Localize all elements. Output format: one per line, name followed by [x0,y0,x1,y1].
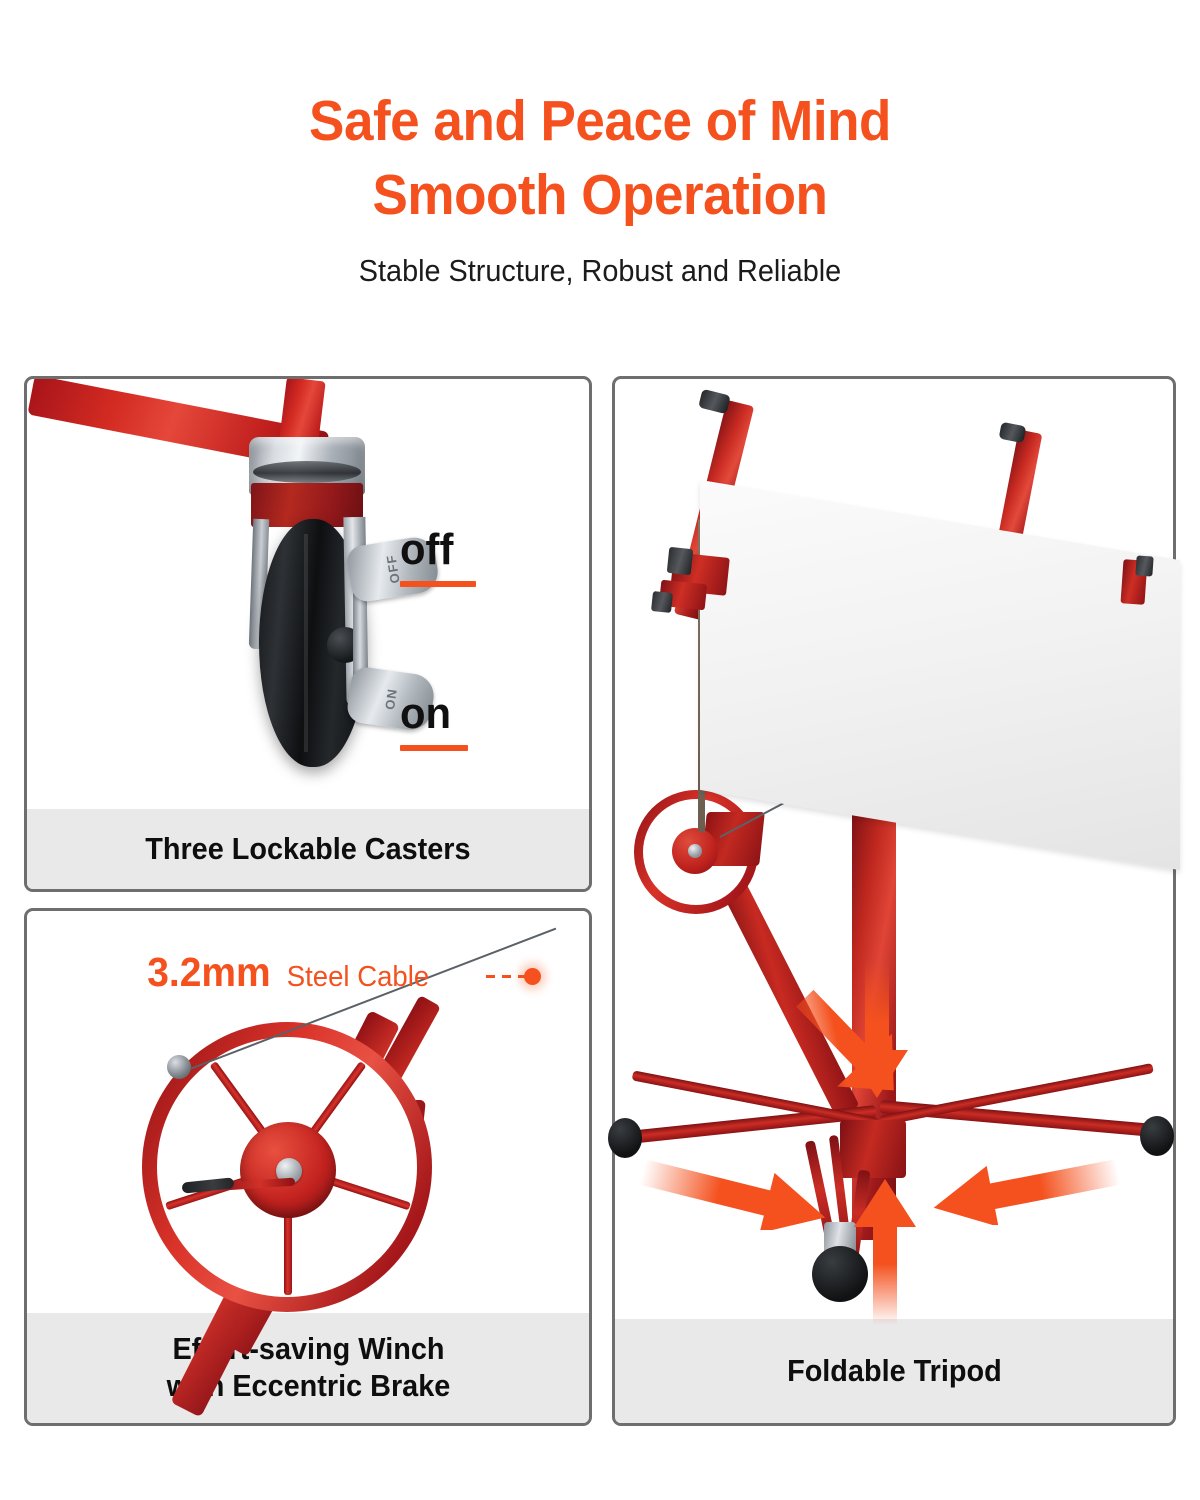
tripod-photo [615,379,1173,1319]
winch-photo [27,911,589,1313]
header: Safe and Peace of Mind Smooth Operation … [0,0,1200,289]
caption-text-tripod: Foldable Tripod [787,1353,1002,1390]
label-off-underline [400,581,476,587]
caption-text-winch: Effort-saving Winch with Eccentric Brake [166,1331,450,1404]
brake-lever-on-text: ON [382,687,400,710]
panel-foldable-tripod: Foldable Tripod [612,376,1176,1426]
subtitle: Stable Structure, Robust and Reliable [42,252,1158,289]
label-on-underline [400,745,468,751]
caption-bar-winch: Effort-saving Winch with Eccentric Brake [27,1313,589,1423]
caption-bar-casters: Three Lockable Casters [27,809,589,889]
panel-effort-saving-winch: Effort-saving Winch with Eccentric Brake [24,908,592,1426]
caption-winch-line-2: with Eccentric Brake [166,1368,450,1405]
panel-three-lockable-casters: OFF ON Three Lockable Casters [24,376,592,892]
caption-text-casters: Three Lockable Casters [145,831,470,868]
label-on-text: on [400,692,465,736]
caption-bar-tripod: Foldable Tripod [615,1319,1173,1423]
caster-photo: OFF ON [27,379,589,809]
caption-winch-line-1: Effort-saving Winch [166,1331,450,1368]
headline-line-2: Smooth Operation [42,158,1158,232]
headline-line-1: Safe and Peace of Mind [42,84,1158,158]
label-on: on [400,692,468,751]
label-off-text: off [400,528,472,572]
label-off: off [400,528,476,587]
caster-bearing-ring [253,461,361,483]
caster-illustration: OFF ON [27,379,589,809]
